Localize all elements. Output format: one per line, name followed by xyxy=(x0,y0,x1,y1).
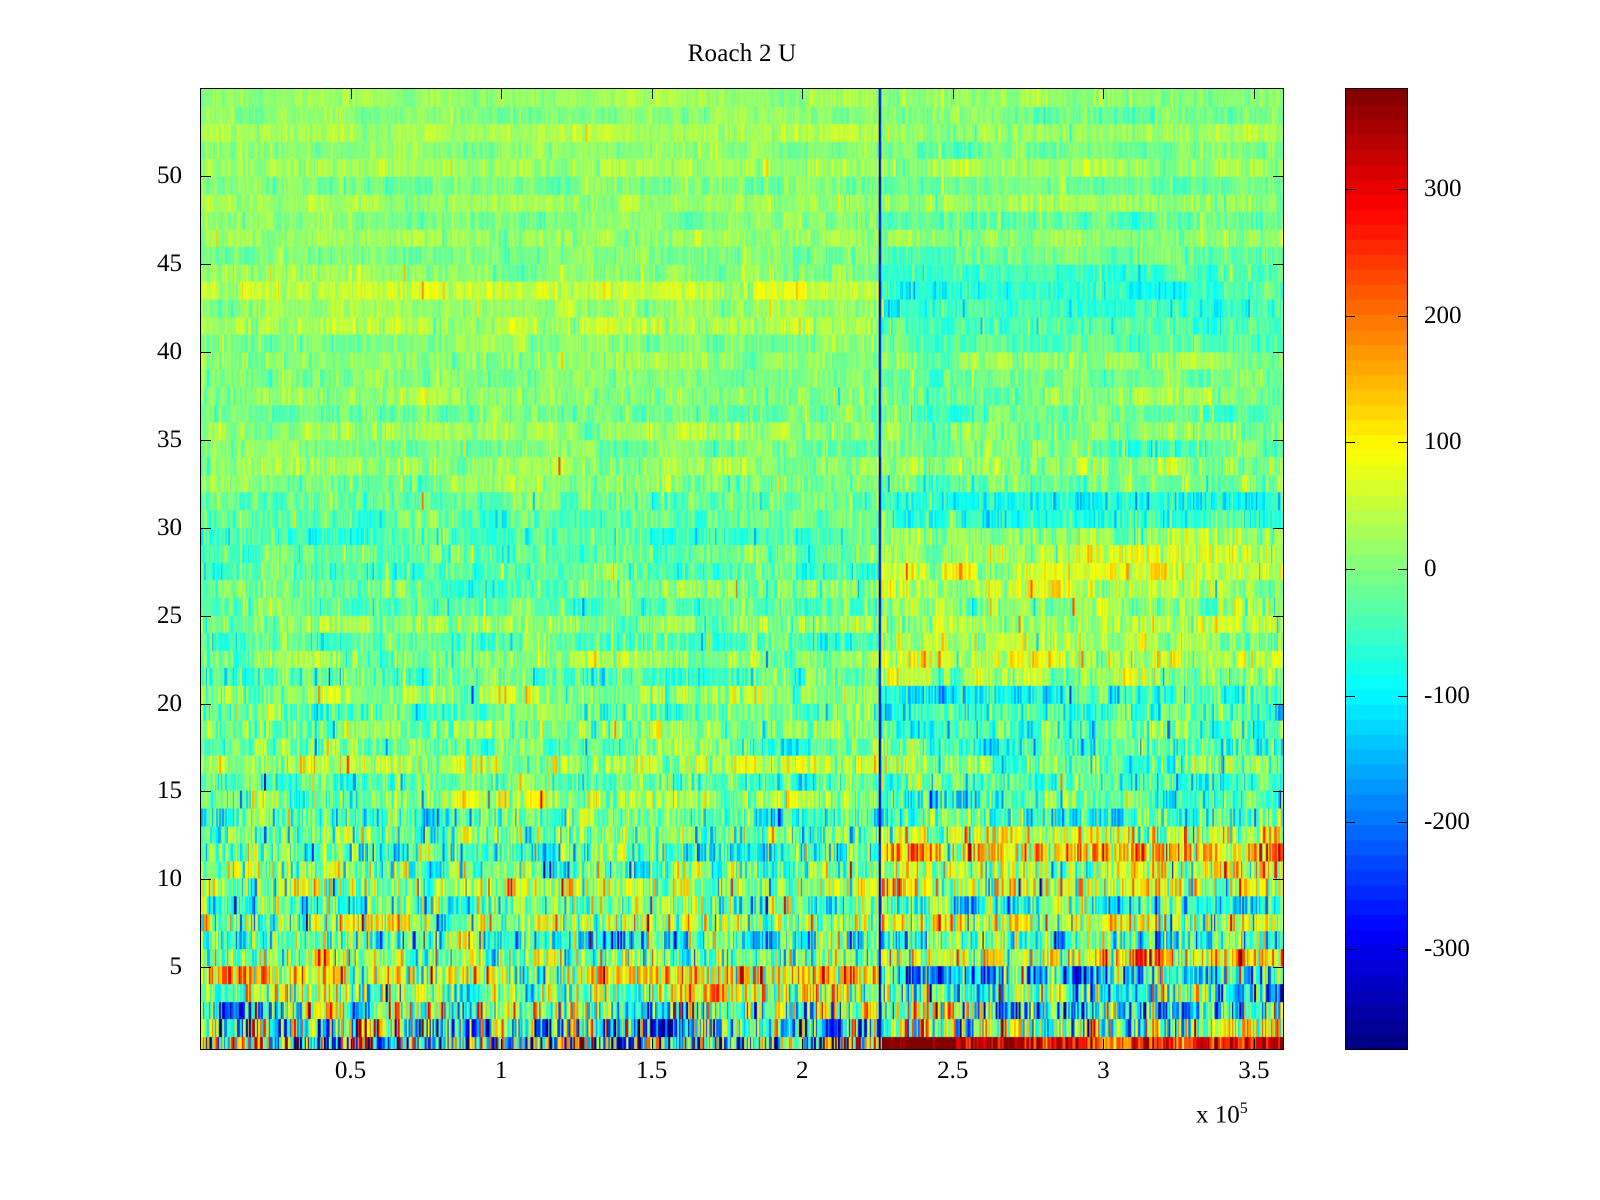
y-axis-tick-label: 5 xyxy=(122,954,182,979)
colorbar-tick-mark-right xyxy=(1398,316,1408,317)
y-axis-tick-label: 10 xyxy=(122,866,182,891)
y-axis-tick-mark xyxy=(200,791,211,792)
x-axis-tick-mark xyxy=(351,1039,352,1050)
y-axis-tick-mark xyxy=(200,352,211,353)
y-axis-tick-label: 40 xyxy=(122,339,182,364)
x-axis-tick-mark-top xyxy=(953,88,954,99)
x-axis-tick-label: 1.5 xyxy=(592,1058,712,1083)
figure-title-text: Roach 2 U xyxy=(688,40,797,68)
x-axis-tick-mark-top xyxy=(802,88,803,99)
colorbar-tick-label: -300 xyxy=(1424,936,1470,961)
x-axis-tick-mark xyxy=(1254,1039,1255,1050)
y-axis-tick-mark-right xyxy=(1273,967,1284,968)
y-axis-tick-mark-right xyxy=(1273,352,1284,353)
y-axis-tick-mark xyxy=(200,264,211,265)
y-axis-tick-label: 25 xyxy=(122,603,182,628)
colorbar-tick-mark-left xyxy=(1345,569,1355,570)
x-axis-tick-mark xyxy=(1103,1039,1104,1050)
y-axis-tick-label: 15 xyxy=(122,778,182,803)
x-axis-tick-mark xyxy=(953,1039,954,1050)
x-axis-tick-mark-top xyxy=(652,88,653,99)
y-axis-tick-label: 30 xyxy=(122,515,182,540)
y-axis-tick-label: 20 xyxy=(122,691,182,716)
y-axis-tick-mark xyxy=(200,704,211,705)
x-axis-tick-mark xyxy=(652,1039,653,1050)
y-axis-tick-mark-right xyxy=(1273,791,1284,792)
colorbar-tick-label: -100 xyxy=(1424,683,1470,708)
colorbar-tick-mark-left xyxy=(1345,442,1355,443)
x-axis-tick-mark xyxy=(501,1039,502,1050)
x-axis-tick-label: 2.5 xyxy=(893,1058,1013,1083)
colorbar-tick-mark-right xyxy=(1398,949,1408,950)
colorbar-tick-mark-left xyxy=(1345,696,1355,697)
x-axis-tick-label: 3.5 xyxy=(1194,1058,1314,1083)
y-axis-tick-mark-right xyxy=(1273,264,1284,265)
y-axis-tick-mark xyxy=(200,616,211,617)
y-axis-tick-mark-right xyxy=(1273,528,1284,529)
colorbar-tick-mark-right xyxy=(1398,442,1408,443)
y-axis-tick-mark xyxy=(200,440,211,441)
heatmap-axes xyxy=(200,88,1284,1050)
colorbar-tick-label: 0 xyxy=(1424,556,1437,581)
x-axis-tick-label: 1 xyxy=(441,1058,561,1083)
colorbar-tick-mark-right xyxy=(1398,569,1408,570)
x-axis-tick-label: 2 xyxy=(742,1058,862,1083)
colorbar-tick-label: 300 xyxy=(1424,176,1462,201)
y-axis-tick-label: 45 xyxy=(122,251,182,276)
y-axis-tick-label: 35 xyxy=(122,427,182,452)
colorbar-tick-mark-left xyxy=(1345,189,1355,190)
colorbar-tick-mark-left xyxy=(1345,949,1355,950)
y-axis-tick-mark-right xyxy=(1273,440,1284,441)
colorbar-tick-label: 100 xyxy=(1424,429,1462,454)
x-axis-tick-mark-top xyxy=(1254,88,1255,99)
colorbar-tick-mark-right xyxy=(1398,189,1408,190)
x-axis-tick-label: 3 xyxy=(1043,1058,1163,1083)
y-axis-tick-mark-right xyxy=(1273,176,1284,177)
x-axis-exponent-label: x 105 xyxy=(1196,1100,1248,1129)
x-axis-tick-mark-top xyxy=(351,88,352,99)
heatmap-image xyxy=(201,89,1283,1049)
colorbar-tick-label: -200 xyxy=(1424,809,1470,834)
y-axis-tick-mark xyxy=(200,879,211,880)
colorbar-tick-mark-right xyxy=(1398,822,1408,823)
colorbar-tick-label: 200 xyxy=(1424,303,1462,328)
colorbar-tick-mark-left xyxy=(1345,822,1355,823)
figure-canvas: Roach 2 U 5101520253035404550 0.511.522.… xyxy=(0,0,1600,1200)
colorbar-tick-mark-left xyxy=(1345,316,1355,317)
x-axis-exponent-power: 5 xyxy=(1240,1100,1248,1117)
y-axis-tick-mark xyxy=(200,967,211,968)
figure-title: Roach 2 U xyxy=(0,40,1600,68)
x-axis-tick-label: 0.5 xyxy=(291,1058,411,1083)
x-axis-exponent-mantissa: x 10 xyxy=(1196,1101,1240,1128)
x-axis-tick-mark xyxy=(802,1039,803,1050)
y-axis-tick-mark-right xyxy=(1273,616,1284,617)
x-axis-tick-mark-top xyxy=(1103,88,1104,99)
y-axis-tick-mark-right xyxy=(1273,704,1284,705)
colorbar-tick-mark-right xyxy=(1398,696,1408,697)
y-axis-tick-label: 50 xyxy=(122,163,182,188)
y-axis-tick-mark-right xyxy=(1273,879,1284,880)
y-axis-tick-mark xyxy=(200,528,211,529)
x-axis-tick-mark-top xyxy=(501,88,502,99)
y-axis-tick-mark xyxy=(200,176,211,177)
